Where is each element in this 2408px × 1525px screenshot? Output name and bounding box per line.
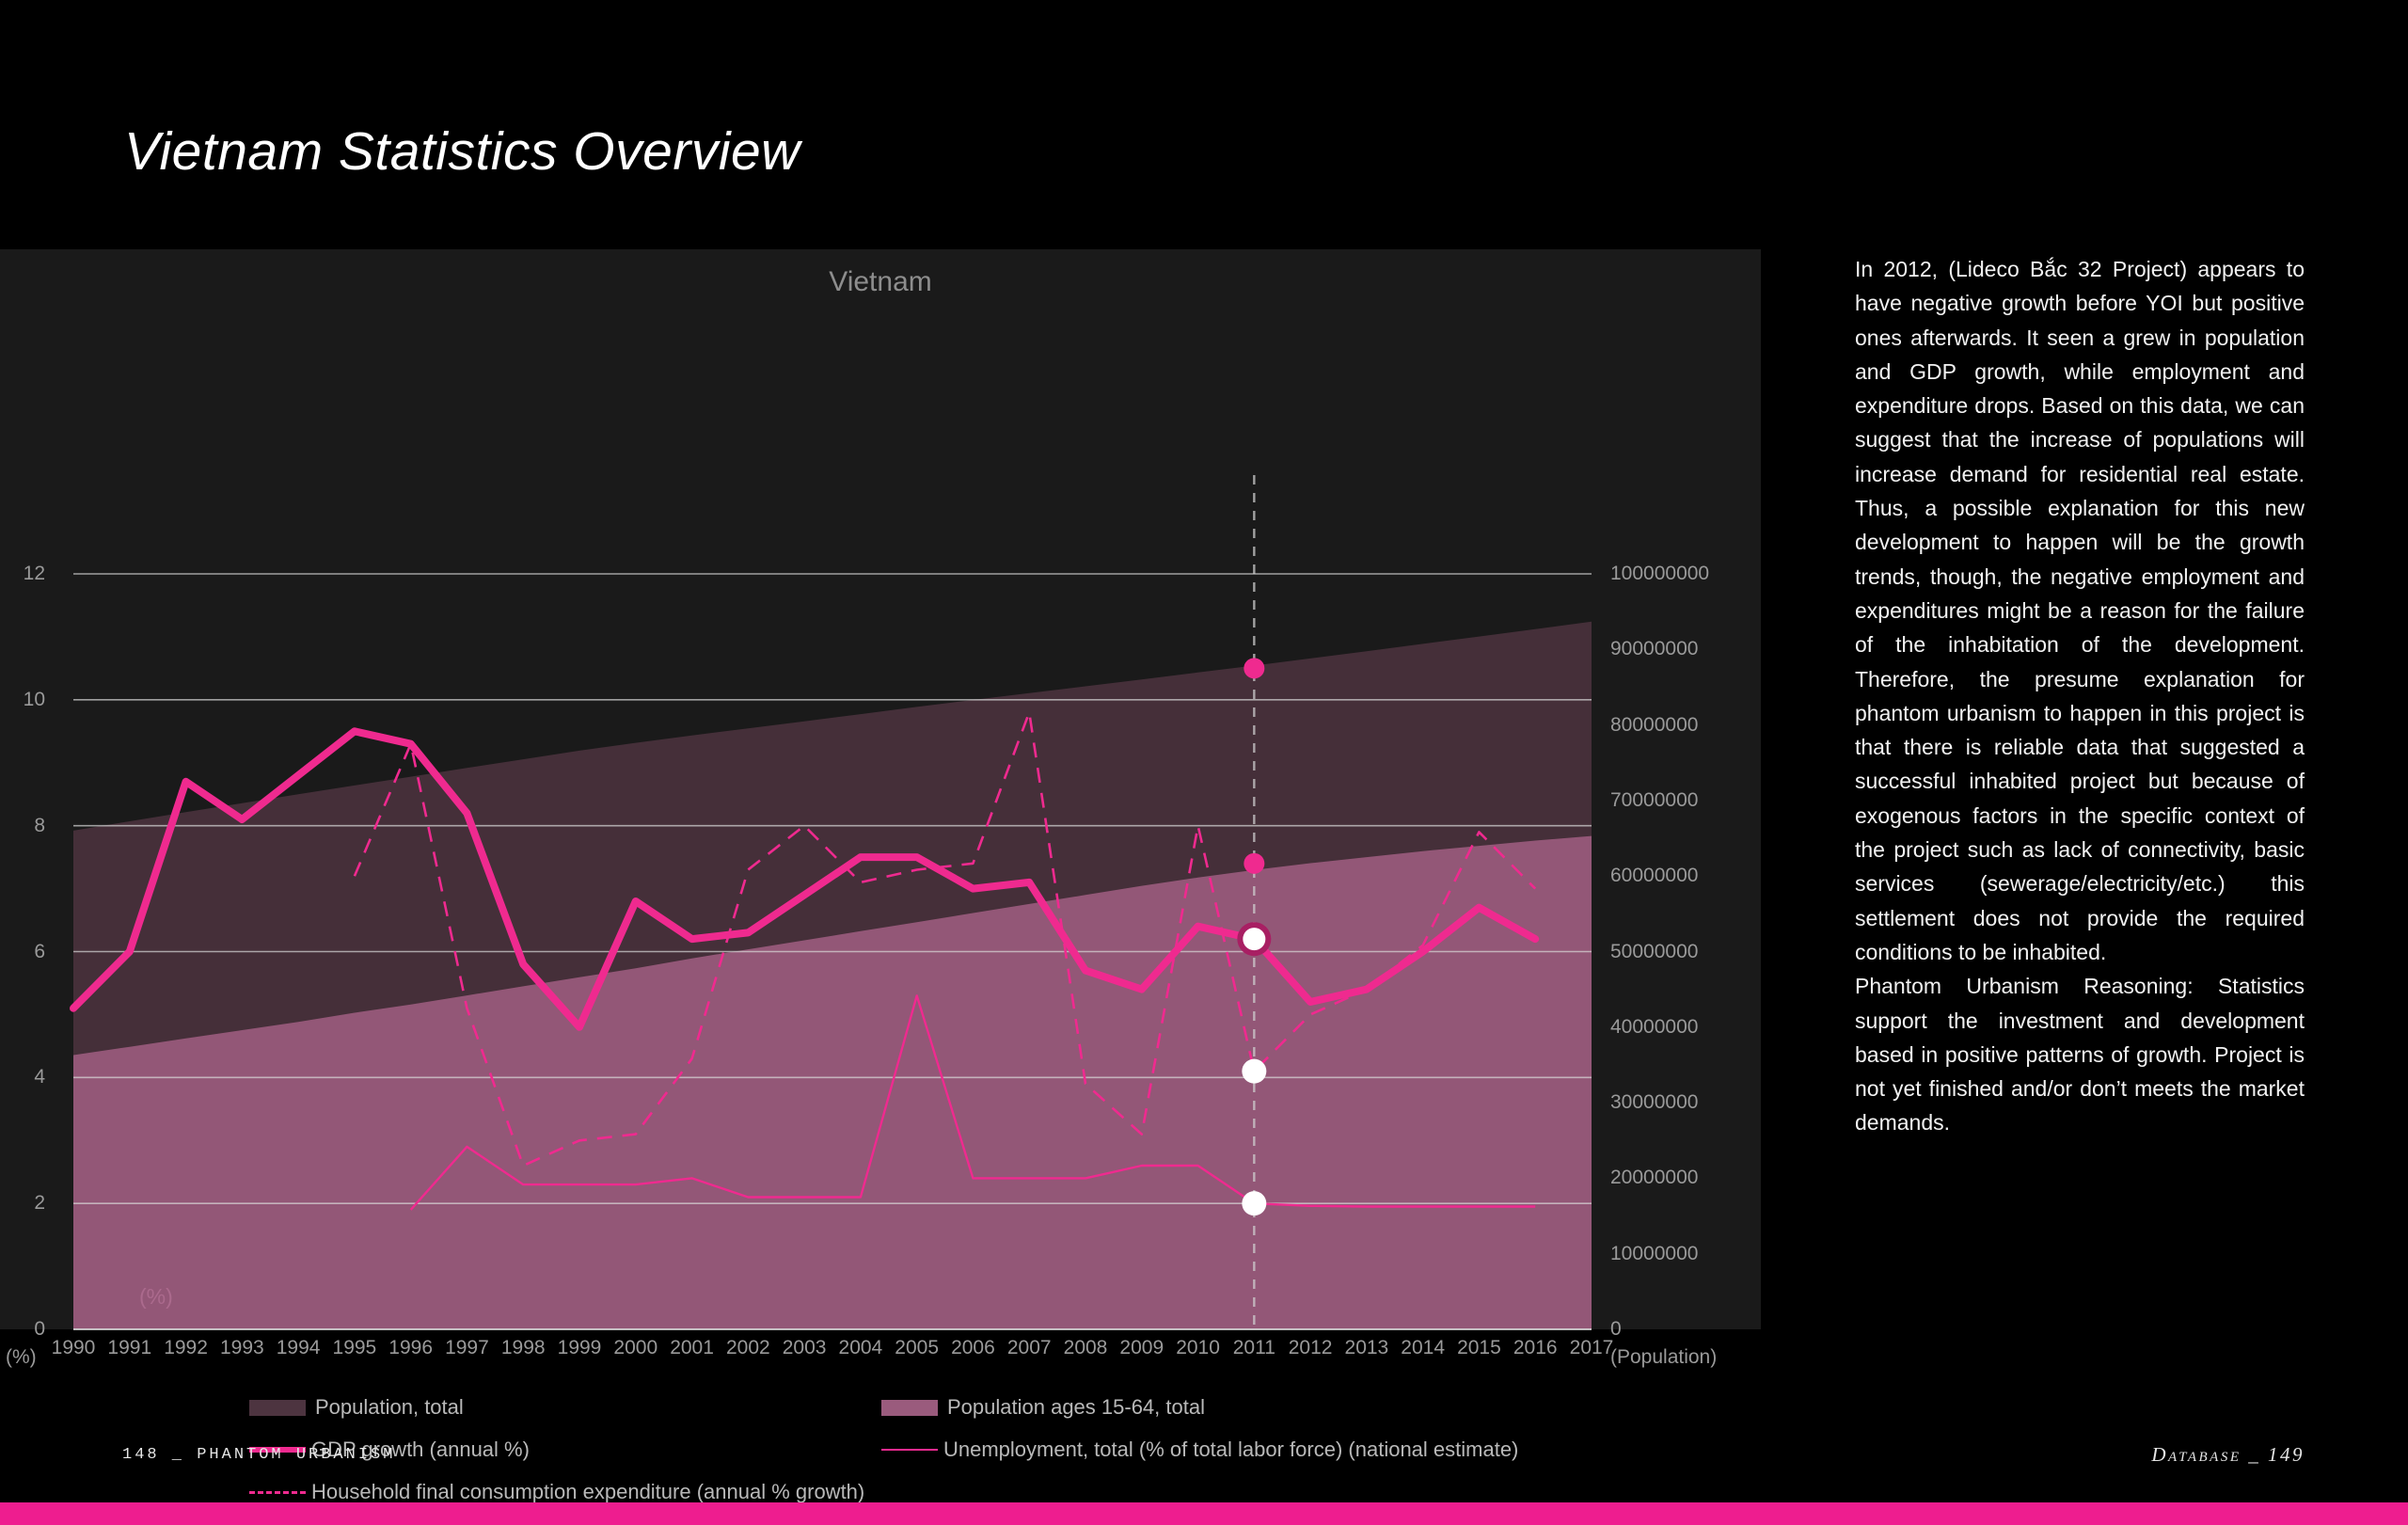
- y-tick-left: 2: [34, 1192, 45, 1215]
- chart-svg: [73, 574, 1592, 1329]
- data-point-marker[interactable]: [1244, 853, 1264, 874]
- annotation-paragraph-1: In 2012, (Lideco Bắc 32 Project) appears…: [1855, 252, 2305, 969]
- annotation-text: In 2012, (Lideco Bắc 32 Project) appears…: [1855, 252, 2305, 1140]
- legend-item-unemployment[interactable]: Unemployment, total (% of total labor fo…: [881, 1438, 1518, 1462]
- y-tick-right: 10000000: [1610, 1243, 1698, 1265]
- legend-item-household-expenditure[interactable]: Household final consumption expenditure …: [249, 1480, 864, 1504]
- chart-title: Vietnam: [0, 266, 1761, 298]
- x-tick: 1990: [52, 1337, 96, 1359]
- legend-swatch-area-icon: [881, 1400, 938, 1416]
- x-tick: 2015: [1457, 1337, 1501, 1359]
- y-tick-left: 8: [34, 815, 45, 837]
- x-tick: 1995: [333, 1337, 377, 1359]
- y-tick-left: 10: [24, 689, 45, 711]
- y-tick-left: 12: [24, 563, 45, 585]
- bottom-accent-bar: [0, 1502, 2408, 1525]
- footer-left: 148 _ PHANTOM URBANISM: [122, 1446, 395, 1464]
- x-tick: 2006: [951, 1337, 995, 1359]
- data-point-marker[interactable]: [1242, 1191, 1266, 1215]
- y-axis-right-ticks: 0100000002000000030000000400000005000000…: [1610, 574, 1836, 1329]
- x-tick: 2009: [1119, 1337, 1164, 1359]
- x-tick: 1996: [388, 1337, 433, 1359]
- x-tick: 2002: [726, 1337, 770, 1359]
- data-point-marker[interactable]: [1242, 1059, 1266, 1084]
- y-tick-left: 4: [34, 1066, 45, 1088]
- x-tick: 2011: [1233, 1337, 1275, 1359]
- y-tick-right: 60000000: [1610, 865, 1698, 887]
- axis-unit-right: (Population): [1610, 1346, 1717, 1369]
- x-tick: 1992: [164, 1337, 208, 1359]
- x-tick: 2014: [1401, 1337, 1445, 1359]
- legend-label: Household final consumption expenditure …: [311, 1480, 864, 1504]
- x-tick: 2012: [1289, 1337, 1333, 1359]
- legend-label: Population ages 15-64, total: [947, 1395, 1205, 1420]
- x-tick: 2013: [1345, 1337, 1389, 1359]
- legend-row: GDP growth (annual %) Unemployment, tota…: [249, 1438, 1566, 1480]
- annotation-paragraph-2: Phantom Urbanism Reasoning: Statistics s…: [1855, 969, 2305, 1139]
- x-tick: 1991: [107, 1337, 151, 1359]
- legend-item-population-total[interactable]: Population, total: [249, 1395, 464, 1420]
- x-tick: 1999: [558, 1337, 602, 1359]
- axis-unit-left: (%): [6, 1346, 37, 1369]
- y-tick-right: 20000000: [1610, 1167, 1698, 1189]
- page-title: Vietnam Statistics Overview: [124, 120, 800, 183]
- y-tick-right: 80000000: [1610, 714, 1698, 737]
- x-tick: 2010: [1176, 1337, 1220, 1359]
- x-tick: 2005: [895, 1337, 939, 1359]
- legend-item-population-15-64[interactable]: Population ages 15-64, total: [881, 1395, 1205, 1420]
- percent-watermark: (%): [139, 1284, 173, 1310]
- chart-panel: Vietnam 024681012 0100000002000000030000…: [0, 249, 1761, 1329]
- y-axis-left-ticks: 024681012: [0, 574, 45, 1329]
- x-axis-ticks: 1990199119921993199419951996199719981999…: [73, 1337, 1592, 1374]
- x-tick: 2008: [1064, 1337, 1108, 1359]
- legend-row: Population, total Population ages 15-64,…: [249, 1395, 1566, 1438]
- x-tick: 2003: [783, 1337, 827, 1359]
- x-tick: 2016: [1513, 1337, 1558, 1359]
- x-tick: 2000: [613, 1337, 657, 1359]
- x-tick: 2004: [839, 1337, 883, 1359]
- y-tick-left: 6: [34, 941, 45, 963]
- x-tick: 1998: [501, 1337, 546, 1359]
- x-tick: 2017: [1570, 1337, 1614, 1359]
- x-tick: 1997: [445, 1337, 489, 1359]
- y-tick-right: 40000000: [1610, 1016, 1698, 1039]
- y-tick-right: 70000000: [1610, 789, 1698, 812]
- x-tick: 1994: [277, 1337, 321, 1359]
- y-tick-left: 0: [34, 1318, 45, 1341]
- y-tick-right: 30000000: [1610, 1091, 1698, 1114]
- x-tick: 2007: [1007, 1337, 1052, 1359]
- y-tick-right: 100000000: [1610, 563, 1709, 585]
- data-point-marker[interactable]: [1243, 928, 1265, 950]
- legend-label: Unemployment, total (% of total labor fo…: [943, 1438, 1518, 1462]
- legend-swatch-thin-line-icon: [881, 1449, 938, 1451]
- x-tick: 2001: [670, 1337, 714, 1359]
- legend-swatch-dashed-line-icon: [249, 1491, 306, 1494]
- y-tick-right: 90000000: [1610, 638, 1698, 660]
- legend-swatch-area-icon: [249, 1400, 306, 1416]
- footer-right: Database _ 149: [2151, 1443, 2305, 1467]
- legend-label: Population, total: [315, 1395, 464, 1420]
- plot-area: [73, 574, 1592, 1329]
- x-tick: 1993: [220, 1337, 264, 1359]
- data-point-marker[interactable]: [1244, 658, 1264, 678]
- y-tick-right: 50000000: [1610, 941, 1698, 963]
